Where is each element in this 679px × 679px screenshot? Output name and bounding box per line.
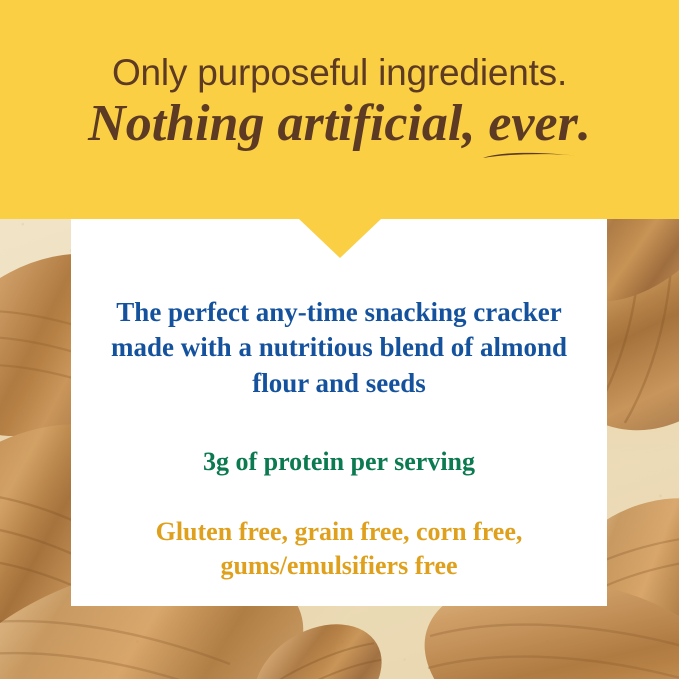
banner-notch-pointer — [299, 219, 381, 258]
headline-line-2-suffix: . — [578, 95, 591, 152]
claim-free-from: Gluten free, grain free, corn free, gums… — [104, 515, 574, 583]
claim-protein: 3g of protein per serving — [203, 445, 475, 479]
claim-snacking-cracker: The perfect any-time snacking cracker ma… — [99, 295, 579, 401]
headline-banner: Only purposeful ingredients. Nothing art… — [0, 0, 679, 219]
headline-emphasis-ever: ever — [488, 97, 577, 152]
headline-line-2: Nothing artificial, ever . — [88, 97, 591, 152]
hand-drawn-underline-icon — [482, 149, 575, 162]
headline-line-1: Only purposeful ingredients. — [112, 54, 567, 93]
headline-line-2-prefix: Nothing artificial, — [88, 95, 488, 152]
product-callout-image: Only purposeful ingredients. Nothing art… — [0, 0, 679, 679]
headline-wrap: Only purposeful ingredients. Nothing art… — [0, 0, 679, 219]
claims-card: The perfect any-time snacking cracker ma… — [71, 219, 607, 606]
headline-emphasis-text: ever — [488, 95, 577, 152]
